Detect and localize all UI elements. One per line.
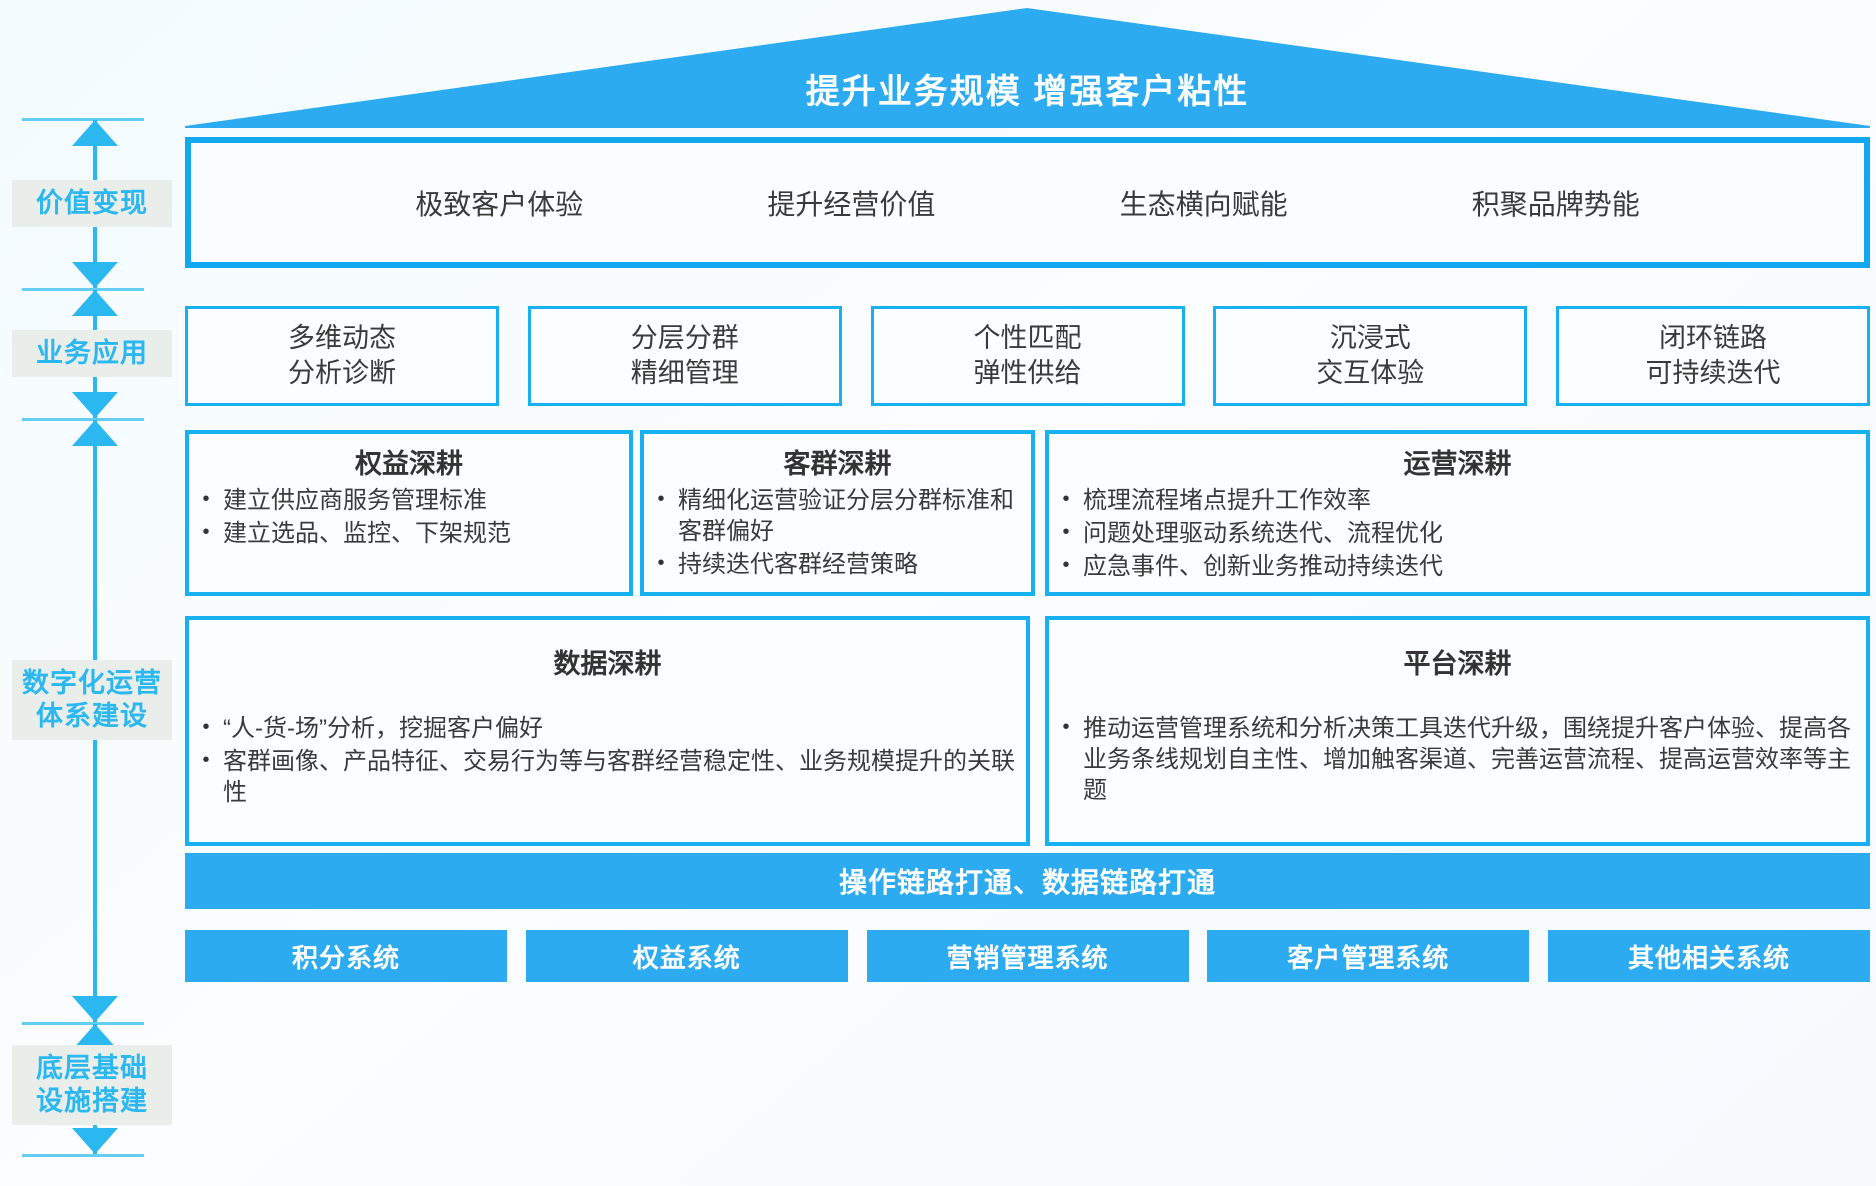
- application-box-line1: 沉浸式: [1330, 321, 1411, 356]
- list-item: • “人-货-场”分析，挖掘客户偏好: [189, 713, 1026, 744]
- rail-tag-label: 价值变现: [12, 187, 172, 220]
- list-item: • 持续迭代客群经营策略: [644, 549, 1031, 580]
- deep-box-equity[interactable]: 权益深耕 • 建立供应商服务管理标准 • 建立选品、监控、下架规范: [185, 430, 633, 596]
- bullet-text: 客群画像、产品特征、交易行为等与客群经营稳定性、业务规模提升的关联性: [223, 746, 1026, 808]
- application-box-line2: 弹性供给: [974, 356, 1082, 391]
- rail-arrow-down-2: [72, 392, 118, 418]
- bullet-dot-icon: •: [644, 549, 678, 578]
- rail-arrow-down-1: [72, 262, 118, 288]
- rail-arrow-up-1: [72, 120, 118, 146]
- application-box-line1: 个性匹配: [974, 321, 1082, 356]
- application-box-line2: 可持续迭代: [1646, 356, 1781, 391]
- bullet-dot-icon: •: [189, 746, 223, 775]
- link-bar: 操作链路打通、数据链路打通: [185, 853, 1870, 909]
- value-layer-box: 极致客户体验 提升经营价值 生态横向赋能 积聚品牌势能: [185, 137, 1870, 268]
- bullet-dot-icon: •: [189, 713, 223, 742]
- deep-box-title: 数据深耕: [189, 642, 1026, 681]
- bullet-text: 精细化运营验证分层分群标准和客群偏好: [678, 485, 1031, 547]
- bullet-text: 问题处理驱动系统迭代、流程优化: [1083, 518, 1866, 549]
- rail-arrow-down-4: [72, 1128, 118, 1154]
- rail-tag-label-line2: 设施搭建: [12, 1085, 172, 1118]
- bullet-dot-icon: •: [644, 485, 678, 514]
- bullet-dot-icon: •: [189, 485, 223, 514]
- deep-box-bullets: • 推动运营管理系统和分析决策工具迭代升级，围绕提升客户体验、提高各业务条线规划…: [1049, 713, 1866, 807]
- rail-arrow-up-2: [72, 290, 118, 316]
- application-box-line1: 多维动态: [288, 321, 396, 356]
- system-box-points[interactable]: 积分系统: [185, 930, 507, 982]
- list-item: • 建立供应商服务管理标准: [189, 485, 629, 516]
- system-box-marketing[interactable]: 营销管理系统: [867, 930, 1189, 982]
- deep-box-platform[interactable]: 平台深耕 • 推动运营管理系统和分析决策工具迭代升级，围绕提升客户体验、提高各业…: [1045, 616, 1870, 846]
- list-item: • 客群画像、产品特征、交易行为等与客群经营稳定性、业务规模提升的关联性: [189, 746, 1026, 808]
- list-item: • 梳理流程堵点提升工作效率: [1049, 485, 1866, 516]
- system-box-customer[interactable]: 客户管理系统: [1207, 930, 1529, 982]
- application-box-line2: 精细管理: [631, 356, 739, 391]
- rail-arrow-down-3: [72, 996, 118, 1022]
- application-box-line2: 分析诊断: [288, 356, 396, 391]
- list-item: • 建立选品、监控、下架规范: [189, 518, 629, 549]
- rail-divider-5: [22, 1154, 144, 1157]
- deep-box-bullets: • 精细化运营验证分层分群标准和客群偏好 • 持续迭代客群经营策略: [644, 485, 1031, 581]
- bullet-text: 应急事件、创新业务推动持续迭代: [1083, 551, 1866, 582]
- deep-box-bullets: • 建立供应商服务管理标准 • 建立选品、监控、下架规范: [189, 485, 629, 549]
- rail-tag-label: 业务应用: [12, 337, 172, 370]
- bullet-dot-icon: •: [189, 518, 223, 547]
- bullet-dot-icon: •: [1049, 551, 1083, 580]
- roof-banner: 提升业务规模 增强客户粘性: [185, 8, 1870, 128]
- deep-box-title: 权益深耕: [189, 442, 629, 481]
- deep-box-title: 平台深耕: [1049, 642, 1866, 681]
- application-box-line1: 闭环链路: [1659, 321, 1767, 356]
- deep-layer-row-1: 权益深耕 • 建立供应商服务管理标准 • 建立选品、监控、下架规范 客群深耕 •…: [185, 430, 1870, 596]
- deep-box-title: 客群深耕: [644, 442, 1031, 481]
- rail-tag-label-line1: 数字化运营: [12, 667, 172, 700]
- diagram-canvas: 价值变现 业务应用 数字化运营 体系建设 底层基础 设施搭建 提升业务规模 增强…: [0, 0, 1876, 1186]
- bullet-dot-icon: •: [1049, 713, 1083, 742]
- rail-tag-digital-operation: 数字化运营 体系建设: [12, 660, 172, 740]
- bullet-text: 建立选品、监控、下架规范: [223, 518, 629, 549]
- list-item: • 问题处理驱动系统迭代、流程优化: [1049, 518, 1866, 549]
- bullet-text: 梳理流程堵点提升工作效率: [1083, 485, 1866, 516]
- deep-box-title: 运营深耕: [1049, 442, 1866, 481]
- roof-title: 提升业务规模 增强客户粘性: [185, 64, 1870, 113]
- bullet-text: 推动运营管理系统和分析决策工具迭代升级，围绕提升客户体验、提高各业务条线规划自主…: [1083, 713, 1866, 807]
- value-item-1: 提升经营价值: [767, 183, 935, 223]
- value-item-0: 极致客户体验: [415, 183, 583, 223]
- deep-box-customer-group[interactable]: 客群深耕 • 精细化运营验证分层分群标准和客群偏好 • 持续迭代客群经营策略: [640, 430, 1035, 596]
- bullet-text: “人-货-场”分析，挖掘客户偏好: [223, 713, 1026, 744]
- rail-tag-label-line2: 体系建设: [12, 700, 172, 733]
- deep-box-bullets: • “人-货-场”分析，挖掘客户偏好 • 客群画像、产品特征、交易行为等与客群经…: [189, 713, 1026, 809]
- system-row: 积分系统 权益系统 营销管理系统 客户管理系统 其他相关系统: [185, 930, 1870, 982]
- application-box-2[interactable]: 个性匹配 弹性供给: [871, 306, 1185, 406]
- bullet-text: 建立供应商服务管理标准: [223, 485, 629, 516]
- rail-tag-business-application: 业务应用: [12, 330, 172, 377]
- deep-box-operations[interactable]: 运营深耕 • 梳理流程堵点提升工作效率 • 问题处理驱动系统迭代、流程优化 • …: [1045, 430, 1870, 596]
- rail-arrow-up-3: [72, 420, 118, 446]
- application-box-0[interactable]: 多维动态 分析诊断: [185, 306, 499, 406]
- deep-box-data[interactable]: 数据深耕 • “人-货-场”分析，挖掘客户偏好 • 客群画像、产品特征、交易行为…: [185, 616, 1030, 846]
- system-box-equity[interactable]: 权益系统: [526, 930, 848, 982]
- application-layer-row: 多维动态 分析诊断 分层分群 精细管理 个性匹配 弹性供给 沉浸式 交互体验 闭…: [185, 306, 1870, 406]
- value-item-3: 积聚品牌势能: [1472, 183, 1640, 223]
- list-item: • 精细化运营验证分层分群标准和客群偏好: [644, 485, 1031, 547]
- application-box-1[interactable]: 分层分群 精细管理: [528, 306, 842, 406]
- application-box-4[interactable]: 闭环链路 可持续迭代: [1556, 306, 1870, 406]
- value-item-2: 生态横向赋能: [1120, 183, 1288, 223]
- bullet-dot-icon: •: [1049, 485, 1083, 514]
- rail-tag-infrastructure: 底层基础 设施搭建: [12, 1045, 172, 1125]
- application-box-line1: 分层分群: [631, 321, 739, 356]
- list-item: • 推动运营管理系统和分析决策工具迭代升级，围绕提升客户体验、提高各业务条线规划…: [1049, 713, 1866, 807]
- deep-box-bullets: • 梳理流程堵点提升工作效率 • 问题处理驱动系统迭代、流程优化 • 应急事件、…: [1049, 485, 1866, 583]
- bullet-text: 持续迭代客群经营策略: [678, 549, 1031, 580]
- system-box-other[interactable]: 其他相关系统: [1548, 930, 1870, 982]
- application-box-line2: 交互体验: [1316, 356, 1424, 391]
- stage-rail: 价值变现 业务应用 数字化运营 体系建设 底层基础 设施搭建: [0, 0, 190, 1186]
- deep-layer-row-2: 数据深耕 • “人-货-场”分析，挖掘客户偏好 • 客群画像、产品特征、交易行为…: [185, 616, 1870, 846]
- bullet-dot-icon: •: [1049, 518, 1083, 547]
- list-item: • 应急事件、创新业务推动持续迭代: [1049, 551, 1866, 582]
- rail-tag-label-line1: 底层基础: [12, 1052, 172, 1085]
- rail-tag-value-realization: 价值变现: [12, 180, 172, 227]
- application-box-3[interactable]: 沉浸式 交互体验: [1213, 306, 1527, 406]
